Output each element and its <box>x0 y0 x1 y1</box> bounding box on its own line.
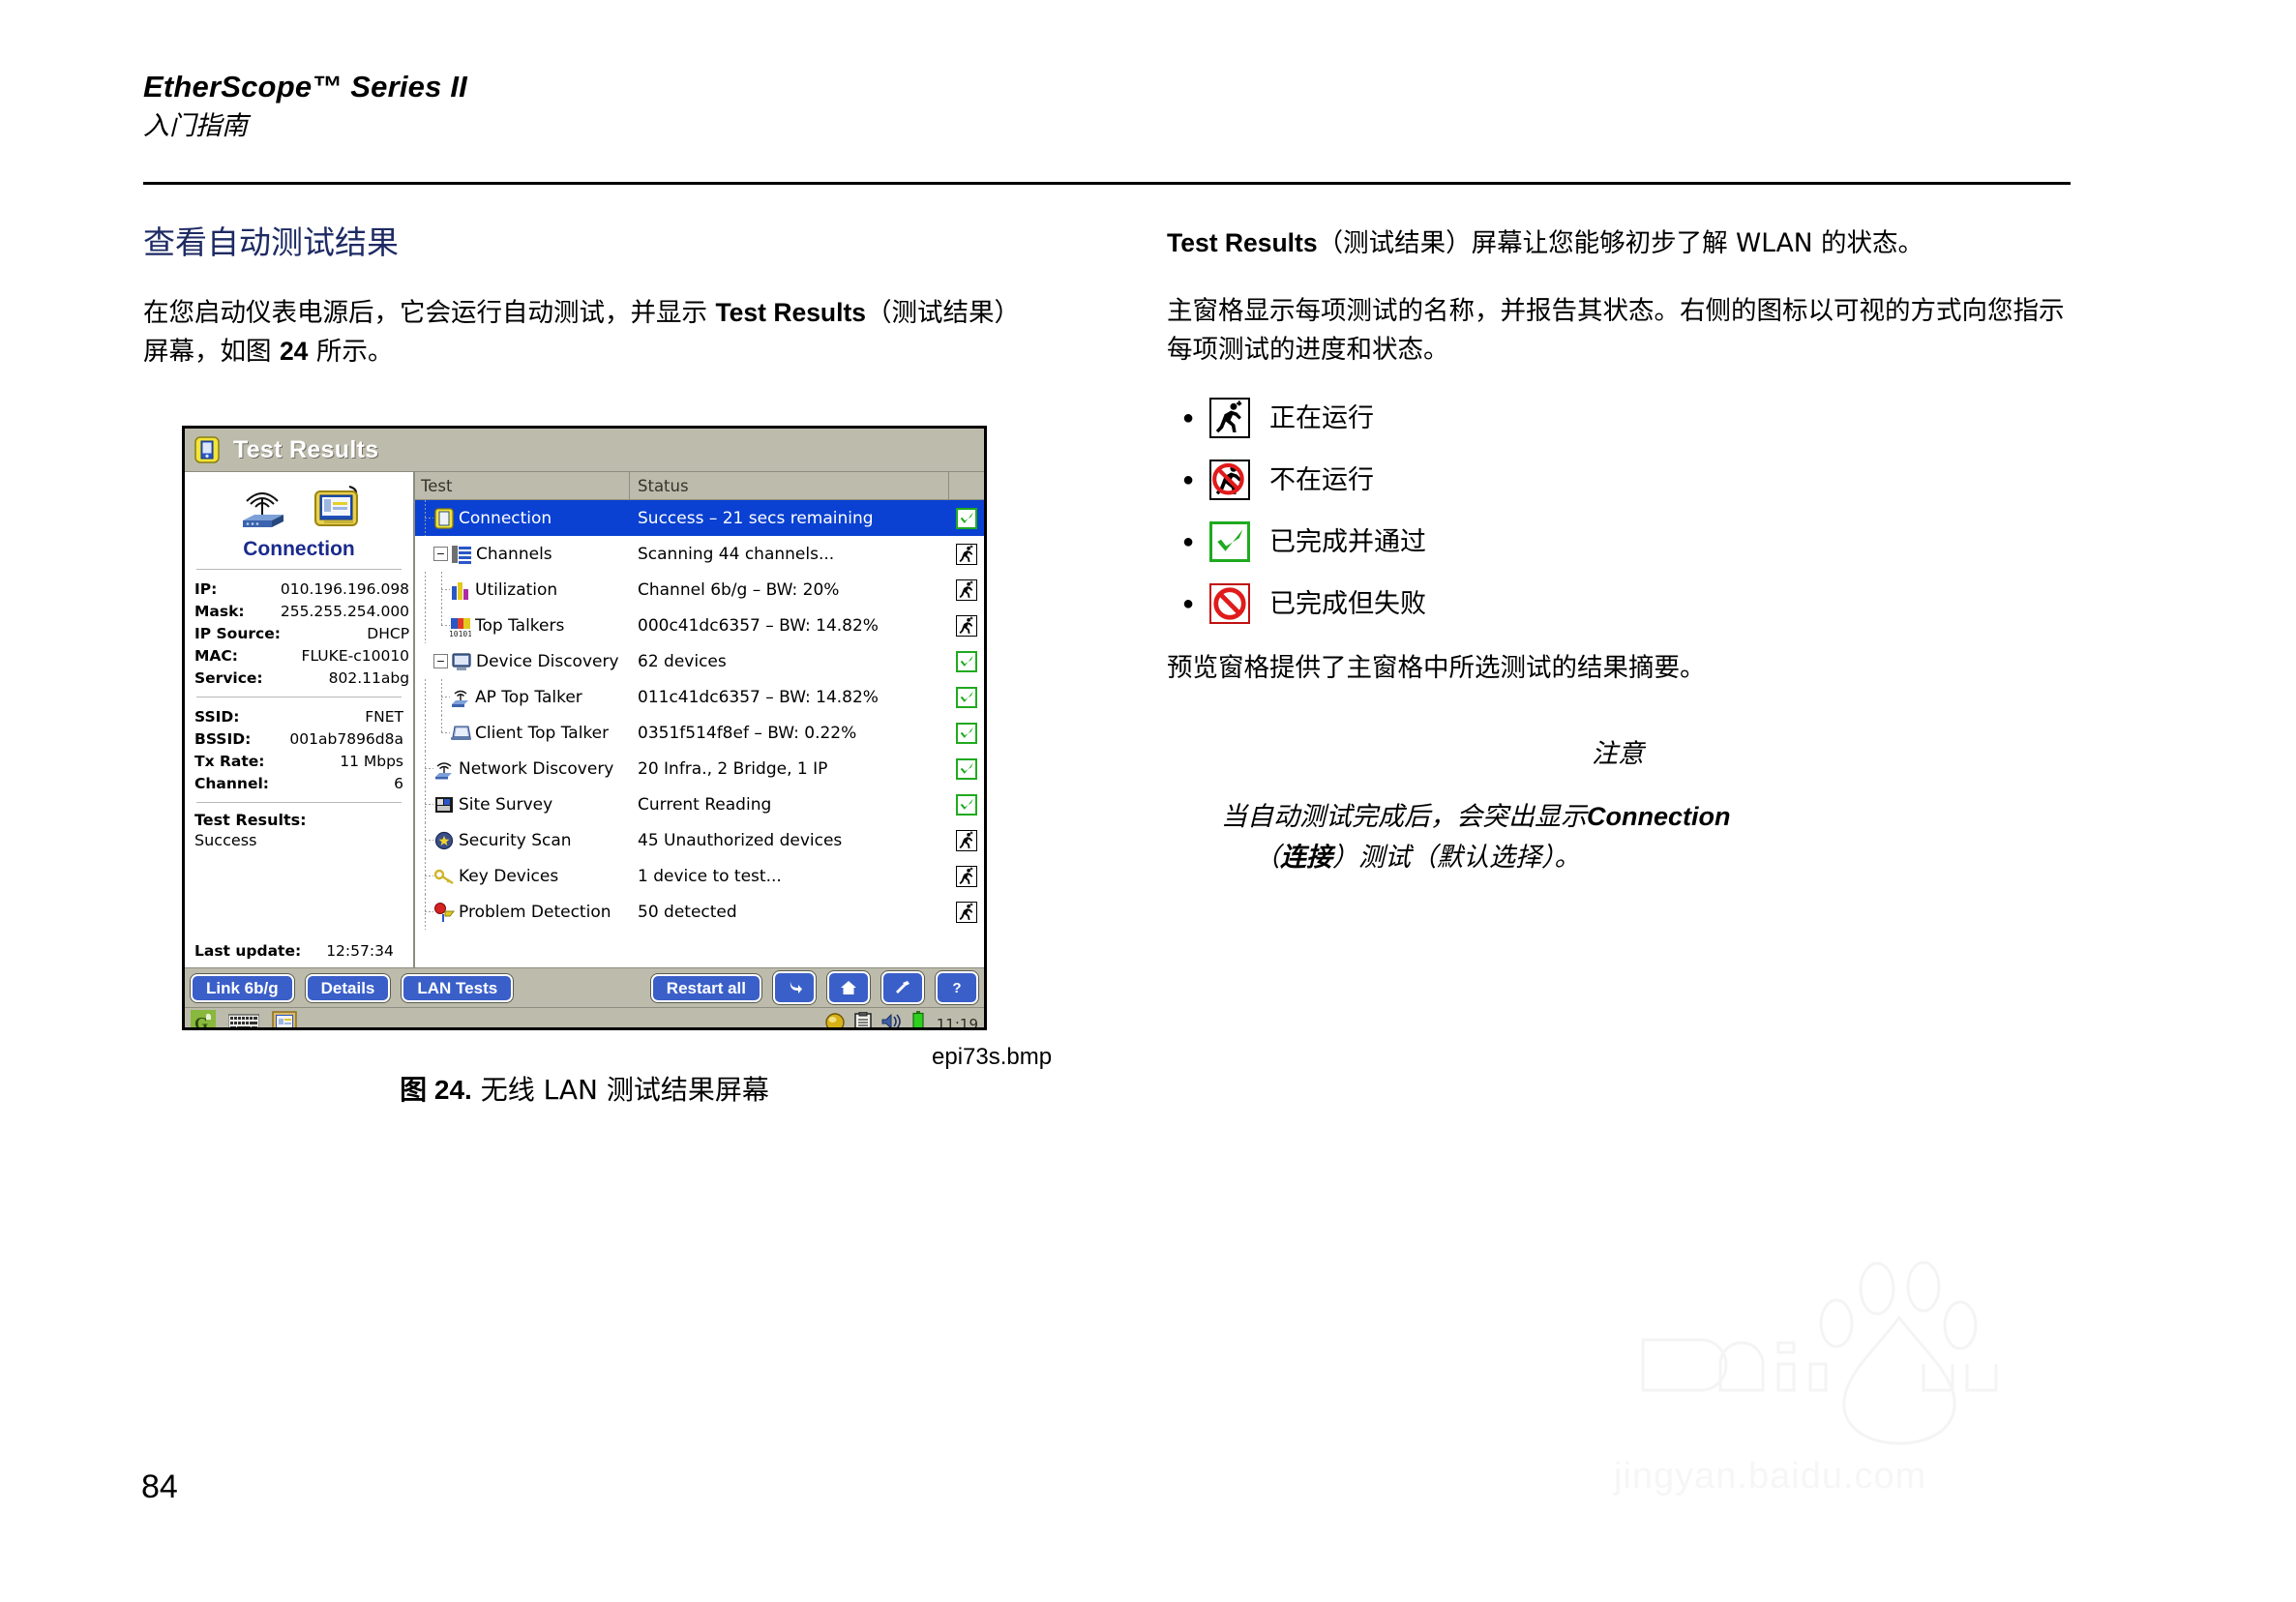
taskbar-left: G <box>191 1010 297 1030</box>
test-status-icon-cell <box>949 615 984 637</box>
status-legend-list: ● 正在运行 ● 不在运行 ● 已完成并通 <box>1167 398 2069 624</box>
problem-detection-icon <box>433 902 455 923</box>
restart-all-button[interactable]: Restart all <box>651 974 761 1002</box>
failed-icon <box>1209 583 1254 624</box>
test-name-cell: AP Top Talker <box>415 679 630 715</box>
bullet-icon: ● <box>1167 408 1209 428</box>
svg-text:10101: 10101 <box>450 630 471 637</box>
preview-value: 001ab7896d8a <box>277 727 403 750</box>
right-paragraph-2: 主窗格显示每项测试的名称，并报告其状态。右侧的图标以可视的方式向您指示每项测试的… <box>1167 292 2069 370</box>
bitmap-filename-label: epi73s.bmp <box>932 1044 1052 1071</box>
device-titlebar: Test Results <box>185 429 984 472</box>
tree-line <box>417 786 433 822</box>
test-status-icon-cell <box>949 758 984 780</box>
network-globe-icon[interactable] <box>824 1012 846 1030</box>
not-running-icon <box>1209 460 1254 500</box>
tree-line <box>417 500 433 536</box>
test-name-label: Channels <box>476 545 552 564</box>
legend-label: 已完成并通过 <box>1269 529 1426 555</box>
test-status-icon-cell <box>949 579 984 601</box>
preview-key: BSSID: <box>194 727 277 750</box>
note-line2-c: ）测试（默认选择）。 <box>1332 843 1581 873</box>
column-header-status: Status <box>630 472 949 499</box>
ap-icon <box>450 687 471 708</box>
test-name-cell: −Device Discovery <box>415 643 630 679</box>
running-icon <box>956 830 977 851</box>
test-name-label: Client Top Talker <box>475 724 609 743</box>
tree-line <box>433 679 450 715</box>
bullet-icon: ● <box>1167 594 1209 613</box>
connection-icon <box>433 508 455 529</box>
tree-line <box>417 572 433 608</box>
figure-caption-number: 图 24. <box>400 1075 472 1105</box>
tree-line <box>417 536 433 572</box>
list-item: ● 已完成但失败 <box>1167 583 2069 624</box>
manual-subtitle: 入门指南 <box>143 112 2078 141</box>
right-paragraph-1: Test Results（测试结果）屏幕让您能够初步了解 WLAN 的状态。 <box>1167 224 2069 263</box>
header-divider <box>143 182 2071 185</box>
passed-icon <box>956 651 977 672</box>
site-survey-icon <box>433 794 455 816</box>
preview-key: IP: <box>194 578 281 600</box>
taskbar-right: 11:19 <box>824 1011 978 1030</box>
preview-results-value: Success <box>194 831 403 849</box>
column-header-test: Test <box>415 472 630 499</box>
test-status-cell: 011c41dc6357 – BW: 14.82% <box>630 688 949 707</box>
test-name-label: Connection <box>459 509 552 528</box>
test-name-cell: Site Survey <box>415 786 630 822</box>
page-number: 84 <box>141 1468 178 1506</box>
bullet-icon: ● <box>1167 470 1209 489</box>
intro-text-e: 所示。 <box>308 337 393 367</box>
note-line2-a: （ <box>1254 843 1280 873</box>
preview-value: 802.11abg <box>281 667 409 689</box>
tree-line <box>417 608 433 643</box>
key-icon <box>433 866 455 887</box>
figure-screenshot: Test Results <box>182 426 987 1030</box>
list-item: ● 正在运行 <box>1167 398 2069 438</box>
test-name-label: Problem Detection <box>459 903 611 922</box>
battery-icon[interactable] <box>912 1011 924 1030</box>
test-status-cell: Current Reading <box>630 795 949 815</box>
wireless-ap-icon <box>235 484 289 534</box>
preview-row: MAC:FLUKE-c10010 <box>194 644 409 667</box>
tree-line <box>433 608 450 643</box>
preview-row: Tx Rate:11 Mbps <box>194 750 403 772</box>
table-row[interactable]: AP Top Talker011c41dc6357 – BW: 14.82% <box>415 679 984 715</box>
preview-row: SSID:FNET <box>194 705 403 727</box>
test-status-cell: 45 Unauthorized devices <box>630 831 949 850</box>
preview-value: FNET <box>277 705 403 727</box>
tree-line <box>417 858 433 894</box>
preview-value: DHCP <box>281 622 409 644</box>
tree-line <box>417 715 433 751</box>
tree-line <box>417 894 433 930</box>
network-discovery-icon <box>433 758 455 780</box>
link-button[interactable]: Link 6b/g <box>191 974 294 1002</box>
preview-row: Channel:6 <box>194 772 403 794</box>
preview-value: 6 <box>277 772 403 794</box>
test-status-icon-cell <box>949 508 984 529</box>
preview-value: 11 Mbps <box>277 750 403 772</box>
preview-value: 255.255.254.000 <box>281 600 409 622</box>
test-status-icon-cell <box>949 866 984 887</box>
preview-icons <box>194 484 403 534</box>
tester-device-icon <box>193 435 222 464</box>
tree-line <box>433 572 450 608</box>
test-status-icon-cell <box>949 687 984 708</box>
preview-row: IP:010.196.196.098 <box>194 578 409 600</box>
tree-line <box>433 715 450 751</box>
test-status-cell: 1 device to test... <box>630 867 949 886</box>
preview-divider-1 <box>196 569 402 570</box>
right-column: Test Results（测试结果）屏幕让您能够初步了解 WLAN 的状态。 主… <box>1167 224 2069 877</box>
test-name-label: Key Devices <box>459 867 558 886</box>
preview-key: SSID: <box>194 705 277 727</box>
details-button[interactable]: Details <box>306 974 391 1002</box>
tree-line <box>417 822 433 858</box>
test-status-icon-cell <box>949 651 984 672</box>
preview-key: Channel: <box>194 772 277 794</box>
tree-line <box>417 679 433 715</box>
column-header-icon <box>949 472 984 499</box>
test-status-icon-cell <box>949 544 984 565</box>
intro-test-results-bold: Test Results <box>715 298 866 327</box>
screen-icon[interactable] <box>272 1011 297 1030</box>
table-row[interactable]: 10101Top Talkers000c41dc6357 – BW: 14.82… <box>415 608 984 643</box>
device-body: Connection IP:010.196.196.098Mask:255.25… <box>185 472 984 967</box>
intro-paragraph: 在您启动仪表电源后，它会运行自动测试，并显示 Test Results（测试结果… <box>143 294 1043 371</box>
etherscope-tester-icon <box>311 484 363 534</box>
running-icon <box>956 866 977 887</box>
legend-label: 已完成但失败 <box>1269 591 1426 617</box>
preview-key: IP Source: <box>194 622 281 644</box>
table-row[interactable]: UtilizationChannel 6b/g – BW: 20% <box>415 572 984 608</box>
test-status-cell: Success – 21 secs remaining <box>630 509 949 528</box>
tree-line <box>417 643 433 679</box>
test-name-cell: Security Scan <box>415 822 630 858</box>
note-connection-bold: Connection <box>1587 802 1731 831</box>
running-icon <box>956 544 977 565</box>
test-name-cell: Network Discovery <box>415 751 630 786</box>
right-p1-test-results: Test Results <box>1167 228 1318 257</box>
preview-key: MAC: <box>194 644 281 667</box>
keyboard-icon[interactable] <box>228 1013 259 1030</box>
test-status-icon-cell <box>949 902 984 923</box>
test-name-cell: −Channels <box>415 536 630 572</box>
figure-caption-text: 无线 LAN 测试结果屏幕 <box>472 1074 769 1106</box>
note-title: 注意 <box>1167 732 2069 770</box>
test-name-label: Utilization <box>475 580 557 600</box>
table-row[interactable]: −Device Discovery62 devices <box>415 643 984 679</box>
preview-results-heading: Test Results: <box>194 811 403 829</box>
running-icon <box>1209 398 1254 438</box>
etherscope-device-screen: Test Results <box>182 426 987 1030</box>
running-icon <box>956 615 977 637</box>
test-name-label: Network Discovery <box>459 759 613 779</box>
test-name-label: Device Discovery <box>476 652 619 671</box>
preview-pane: Connection IP:010.196.196.098Mask:255.25… <box>185 472 415 967</box>
test-status-cell: Scanning 44 channels... <box>630 545 949 564</box>
test-name-label: Top Talkers <box>475 616 564 636</box>
intro-figure-number: 24 <box>280 337 308 366</box>
table-row[interactable]: ConnectionSuccess – 21 secs remaining <box>415 500 984 536</box>
laptop-icon <box>450 723 471 744</box>
right-p1-rest: （测试结果）屏幕让您能够初步了解 WLAN 的状态。 <box>1318 228 1923 258</box>
preview-value: 010.196.196.098 <box>281 578 409 600</box>
passed-icon <box>956 758 977 780</box>
test-status-icon-cell <box>949 794 984 816</box>
device-taskbar: G <box>185 1007 984 1030</box>
preview-row: Service:802.11abg <box>194 667 409 689</box>
preview-heading: Connection <box>194 538 403 561</box>
test-list-rows: ConnectionSuccess – 21 secs remaining−Ch… <box>415 500 984 930</box>
table-row[interactable]: Client Top Talker0351f514f8ef – BW: 0.22… <box>415 715 984 751</box>
preview-row: IP Source:DHCP <box>194 622 409 644</box>
home-icon[interactable] <box>827 971 870 1004</box>
passed-icon <box>956 687 977 708</box>
list-item: ● 不在运行 <box>1167 460 2069 500</box>
svg-text:G: G <box>194 1014 208 1030</box>
test-status-cell: 000c41dc6357 – BW: 14.82% <box>630 616 949 636</box>
test-status-cell: Channel 6b/g – BW: 20% <box>630 580 949 600</box>
tree-line <box>417 751 433 786</box>
device-discovery-icon <box>451 651 472 672</box>
preview-divider-2 <box>196 697 402 697</box>
top-talkers-icon: 10101 <box>450 615 471 637</box>
table-row[interactable]: Key Devices1 device to test... <box>415 858 984 894</box>
test-list-header: Test Status <box>415 472 984 500</box>
test-list-pane: Test Status ConnectionSuccess – 21 secs … <box>415 472 984 967</box>
test-name-cell: 10101Top Talkers <box>415 608 630 643</box>
test-name-cell: Client Top Talker <box>415 715 630 751</box>
preview-key: Service: <box>194 667 281 689</box>
note-lianjie-bold: 连接 <box>1280 843 1332 872</box>
help-icon[interactable]: ? <box>936 971 978 1004</box>
start-icon[interactable]: G <box>191 1010 216 1030</box>
document-header: EtherScope™ Series II 入门指南 <box>143 72 2078 140</box>
baidu-watermark: Baidu 经验 jingyan.baidu.com <box>1604 1258 2185 1490</box>
note-line1-a: 当自动测试完成后，会突出显示 <box>1221 802 1587 832</box>
channels-icon <box>451 544 472 565</box>
taskbar-clock: 11:19 <box>933 1016 978 1030</box>
table-row[interactable]: −ChannelsScanning 44 channels... <box>415 536 984 572</box>
svg-text:?: ? <box>952 980 961 996</box>
back-icon[interactable] <box>773 971 816 1004</box>
left-column: 查看自动测试结果 在您启动仪表电源后，它会运行自动测试，并显示 Test Res… <box>143 224 1043 400</box>
device-button-bar: Link 6b/g Details LAN Tests Restart all … <box>185 967 984 1007</box>
running-icon <box>956 579 977 601</box>
note-line2: （连接）测试（默认选择）。 <box>1254 838 2069 878</box>
table-row[interactable]: Security Scan45 Unauthorized devices <box>415 822 984 858</box>
preview-row: Mask:255.255.254.000 <box>194 600 409 622</box>
tree-expander[interactable]: − <box>433 547 448 561</box>
test-name-cell: Key Devices <box>415 858 630 894</box>
legend-label: 不在运行 <box>1269 467 1374 493</box>
speaker-icon[interactable] <box>880 1012 904 1030</box>
passed-icon <box>956 723 977 744</box>
test-status-cell: 50 detected <box>630 903 949 922</box>
list-item: ● 已完成并通过 <box>1167 521 2069 562</box>
baidu-paw-logo-icon <box>1604 1258 2185 1451</box>
right-paragraph-3: 预览窗格提供了主窗格中所选测试的结果摘要。 <box>1167 649 2069 688</box>
section-heading: 查看自动测试结果 <box>143 224 1043 261</box>
device-title-text: Test Results <box>233 436 378 464</box>
test-name-cell: Problem Detection <box>415 894 630 930</box>
preview-group-2: SSID:FNETBSSID:001ab7896d8aTx Rate:11 Mb… <box>194 705 403 794</box>
test-status-icon-cell <box>949 830 984 851</box>
test-name-label: AP Top Talker <box>475 688 582 707</box>
tools-icon[interactable] <box>881 971 924 1004</box>
table-row[interactable]: Problem Detection50 detected <box>415 894 984 930</box>
test-name-label: Site Survey <box>459 795 552 815</box>
last-update-value: 12:57:34 <box>326 942 394 960</box>
preview-key: Mask: <box>194 600 281 622</box>
bullet-icon: ● <box>1167 532 1209 551</box>
passed-icon <box>1209 521 1254 562</box>
intro-text-a: 在您启动仪表电源后，它会运行自动测试，并显示 <box>143 298 715 328</box>
test-status-cell: 62 devices <box>630 652 949 671</box>
last-update-row: Last update: 12:57:34 <box>194 942 403 960</box>
test-status-icon-cell <box>949 723 984 744</box>
utilization-icon <box>450 579 471 601</box>
test-status-cell: 20 Infra., 2 Bridge, 1 IP <box>630 759 949 779</box>
test-name-label: Security Scan <box>459 831 572 850</box>
clipboard-icon[interactable] <box>854 1012 872 1030</box>
legend-label: 正在运行 <box>1269 405 1374 431</box>
note-body: 当自动测试完成后，会突出显示Connection（连接）测试（默认选择）。 <box>1221 797 2069 877</box>
watermark-url: jingyan.baidu.com <box>1614 1456 1926 1498</box>
running-icon <box>956 902 977 923</box>
test-status-cell: 0351f514f8ef – BW: 0.22% <box>630 724 949 743</box>
preview-divider-3 <box>196 802 402 803</box>
passed-icon <box>956 794 977 816</box>
preview-key: Tx Rate: <box>194 750 277 772</box>
last-update-label: Last update: <box>194 942 301 960</box>
figure-caption: 图 24. 无线 LAN 测试结果屏幕 <box>182 1069 987 1108</box>
test-name-cell: Utilization <box>415 572 630 608</box>
table-row[interactable]: Site SurveyCurrent Reading <box>415 786 984 822</box>
preview-group-1: IP:010.196.196.098Mask:255.255.254.000IP… <box>194 578 409 689</box>
preview-row: BSSID:001ab7896d8a <box>194 727 403 750</box>
tree-expander[interactable]: − <box>433 654 448 668</box>
preview-value: FLUKE-c10010 <box>281 644 409 667</box>
table-row[interactable]: Network Discovery20 Infra., 2 Bridge, 1 … <box>415 751 984 786</box>
security-scan-icon <box>433 830 455 851</box>
passed-icon <box>956 508 977 529</box>
lan-tests-button[interactable]: LAN Tests <box>402 974 513 1002</box>
manual-title: EtherScope™ Series II <box>143 72 2078 104</box>
test-name-cell: Connection <box>415 500 630 536</box>
